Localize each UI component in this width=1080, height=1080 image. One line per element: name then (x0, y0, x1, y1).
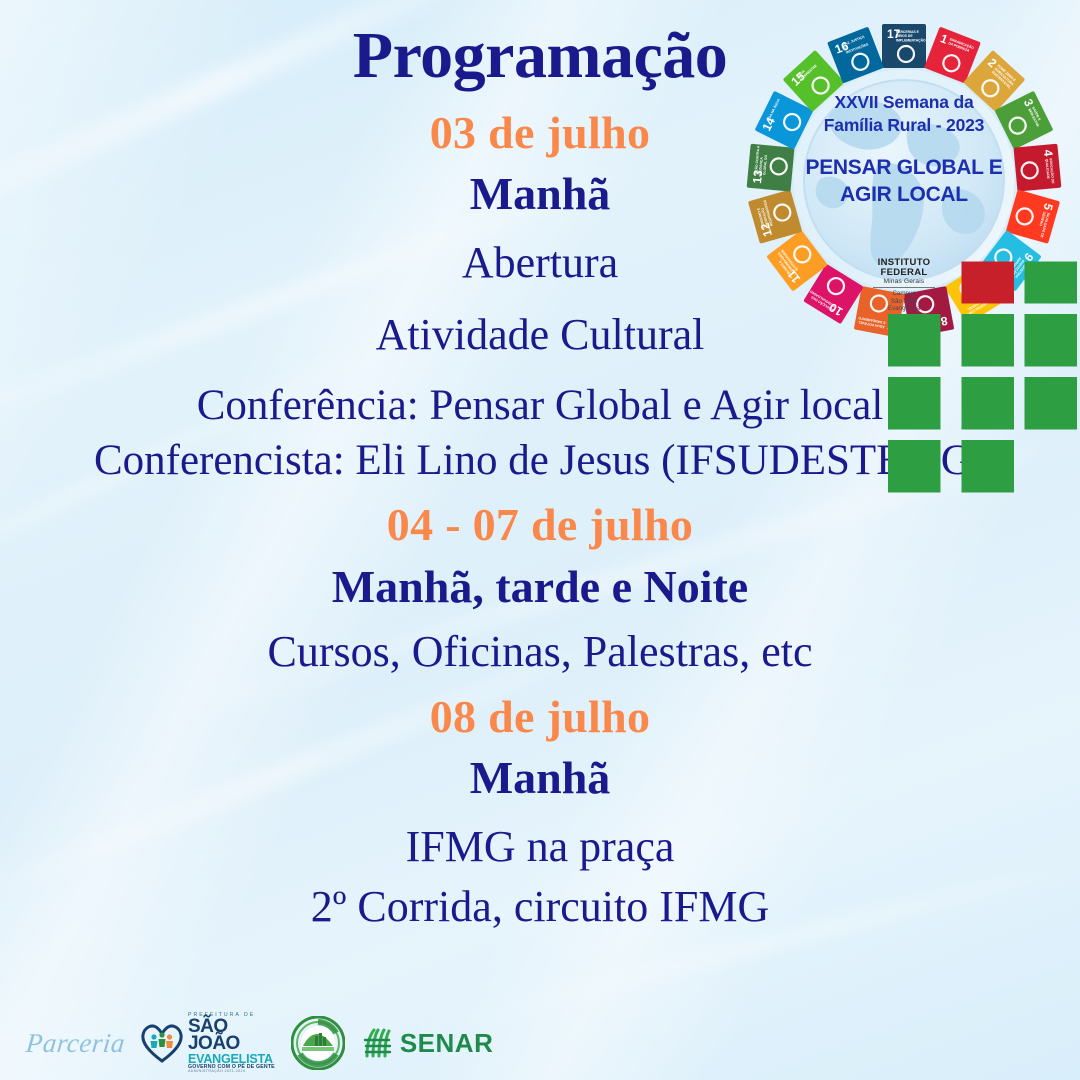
heart-people-icon (141, 1023, 183, 1063)
svg-text:IMPLEMENTAÇÃO: IMPLEMENTAÇÃO (896, 37, 926, 42)
partner-logos: Parceria PREFEITURA DE SÃO JOÃO EVANGELI… (26, 1013, 493, 1074)
sdg-tile-13: 13AÇÃO CONTRA AMUDANÇAGLOBAL DO (747, 144, 795, 192)
senar-logo: SENAR (361, 1026, 494, 1060)
schedule-item: Cursos, Oficinas, Palestras, etc (0, 629, 1080, 675)
senar-wordmark: SENAR (400, 1028, 494, 1059)
schedule-period-2: Manhã, tarde e Noite (0, 563, 1080, 611)
sdg-tile-8: 8TRABALHODECENTE ECRESCIMENTO (903, 286, 954, 337)
schedule-item: 2º Corrida, circuito IFMG (0, 884, 1080, 930)
consciencia-ambiental-seal (291, 1016, 345, 1070)
sdg-tile-6: 6ÁGUA POTÁVELE SANEAMENTO (854, 286, 905, 337)
prefeitura-admin: ADMINISTRAÇÃO 2021-2024 (188, 1070, 275, 1074)
schedule-item: Conferencista: Eli Lino de Jesus (IFSUDE… (0, 439, 1080, 484)
schedule-date-3: 08 de julho (0, 693, 1080, 741)
parceria-label: Parceria (24, 1028, 126, 1059)
poster-canvas: 17PARCERIAS EMEIOS DEIMPLEMENTAÇÃO1ERRAD… (0, 0, 1080, 1080)
sdg-tile-17: 17PARCERIAS EMEIOS DEIMPLEMENTAÇÃO (882, 24, 926, 68)
sdg-wheel-logo: 17PARCERIAS EMEIOS DEIMPLEMENTAÇÃO1ERRAD… (736, 8, 1072, 344)
schedule-period-3: Manhã (0, 754, 1080, 802)
sdg-tile-4: 4EDUCAÇÃO DEQUALIDADE (1013, 144, 1061, 192)
schedule-item: IFMG na praça (0, 824, 1080, 870)
prefeitura-name-2: JOÃO (188, 1035, 275, 1052)
senar-wheat-icon (361, 1026, 395, 1060)
schedule-date-2: 04 - 07 de julho (0, 501, 1080, 549)
prefeitura-sao-joao-evangelista-logo: PREFEITURA DE SÃO JOÃO EVANGELISTA GOVER… (141, 1013, 275, 1074)
schedule-item: Conferência: Pensar Global e Agir local (0, 384, 1080, 429)
